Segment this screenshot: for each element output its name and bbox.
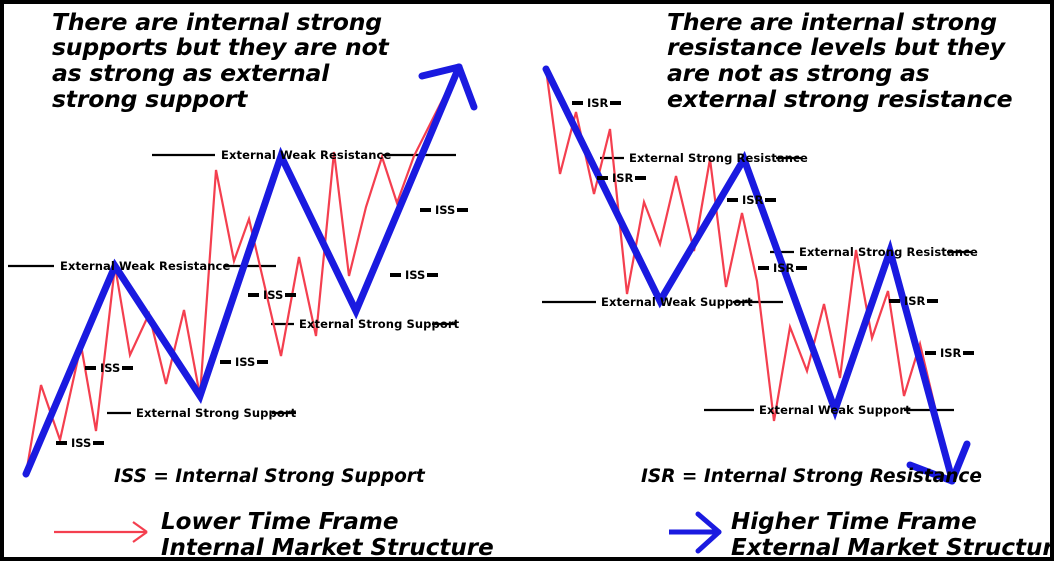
isr-label: ISR (904, 294, 926, 308)
isr-marker-1: ISR (572, 96, 621, 110)
iss-label: ISS (71, 436, 91, 450)
iss-label: ISS (100, 361, 120, 375)
left-panel-title: There are internal strong supports but t… (52, 8, 390, 113)
right-title-line-4: external strong resistance (667, 85, 1013, 113)
isr-dash-right (635, 176, 646, 180)
label-external-strong-support-1: External Strong Support (136, 406, 297, 420)
right-title-line-3: are not as strong as (667, 59, 930, 87)
right-legend-line-2: External Market Structure (731, 535, 1054, 561)
right-external-structure-line (546, 69, 952, 479)
isr-label: ISR (940, 346, 962, 360)
iss-dash-right (285, 293, 296, 297)
isr-dash-right (796, 266, 807, 270)
iss-dash-left (248, 293, 259, 297)
iss-dash-left (390, 273, 401, 277)
label-external-strong-support-2: External Strong Support (299, 317, 460, 331)
iss-marker-5: ISS (390, 268, 438, 282)
isr-marker-3: ISR (727, 193, 776, 207)
isr-dash-right (963, 351, 974, 355)
iss-dash-right (93, 441, 104, 445)
iss-dash-left (85, 366, 96, 370)
iss-marker-2: ISS (85, 361, 133, 375)
iss-marker-1: ISS (56, 436, 104, 450)
label-external-weak-support-1: External Weak Support (601, 295, 753, 309)
isr-dash-left (889, 299, 900, 303)
isr-label: ISR (587, 96, 609, 110)
left-legend-line-2: Internal Market Structure (161, 535, 494, 561)
label-external-strong-resistance-1: External Strong Resistance (629, 151, 808, 165)
iss-dash-right (457, 208, 468, 212)
diagram-frame: There are internal strong supports but t… (0, 0, 1054, 561)
left-title-line-3: as strong as external (52, 59, 330, 87)
right-legend: Higher Time Frame External Market Struct… (669, 509, 1054, 561)
right-isr-markers: ISR ISR ISR ISR (572, 96, 974, 360)
isr-label: ISR (773, 261, 795, 275)
iss-marker-4: ISS (248, 288, 296, 302)
isr-dash-left (597, 176, 608, 180)
iss-label: ISS (405, 268, 425, 282)
right-legend-arrow-icon (669, 514, 719, 551)
iss-dash-right (427, 273, 438, 277)
right-abbreviation: ISR = Internal Strong Resistance (641, 466, 982, 487)
isr-marker-6: ISR (925, 346, 974, 360)
isr-label: ISR (742, 193, 764, 207)
left-title-line-4: strong support (52, 85, 248, 113)
iss-label: ISS (235, 355, 255, 369)
iss-label: ISS (263, 288, 283, 302)
iss-dash-right (257, 360, 268, 364)
iss-dash-left (420, 208, 431, 212)
right-title-line-1: There are internal strong (667, 8, 997, 36)
left-level-labels: External Weak Resistance External Weak R… (60, 148, 460, 420)
right-panel-title: There are internal strong resistance lev… (667, 8, 1013, 113)
left-legend-arrow-icon (54, 522, 147, 542)
isr-dash-left (727, 198, 738, 202)
iss-dash-left (56, 441, 67, 445)
iss-marker-6: ISS (420, 203, 468, 217)
label-external-weak-resistance-2: External Weak Resistance (221, 148, 391, 162)
label-external-weak-resistance-1: External Weak Resistance (60, 259, 230, 273)
left-title-line-1: There are internal strong (52, 8, 382, 36)
left-abbreviation: ISS = Internal Strong Support (114, 466, 426, 487)
isr-dash-right (765, 198, 776, 202)
isr-dash-left (758, 266, 769, 270)
label-external-weak-support-2: External Weak Support (759, 403, 911, 417)
right-legend-line-1: Higher Time Frame (731, 509, 977, 535)
iss-marker-3: ISS (220, 355, 268, 369)
iss-dash-left (220, 360, 231, 364)
isr-dash-left (925, 351, 936, 355)
iss-label: ISS (435, 203, 455, 217)
left-legend-line-1: Lower Time Frame (161, 509, 398, 535)
left-legend: Lower Time Frame Internal Market Structu… (54, 509, 494, 561)
right-internal-structure-line (546, 69, 952, 479)
isr-marker-5: ISR (889, 294, 938, 308)
label-external-strong-resistance-2: External Strong Resistance (799, 245, 978, 259)
left-title-line-2: supports but they are not (52, 33, 390, 61)
isr-marker-4: ISR (758, 261, 807, 275)
isr-dash-left (572, 101, 583, 105)
right-panel: There are internal strong resistance lev… (542, 8, 1054, 561)
isr-label: ISR (612, 171, 634, 185)
isr-dash-right (927, 299, 938, 303)
market-structure-diagram: There are internal strong supports but t… (4, 4, 1054, 561)
isr-dash-right (610, 101, 621, 105)
left-panel: There are internal strong supports but t… (8, 8, 494, 561)
iss-dash-right (122, 366, 133, 370)
right-title-line-2: resistance levels but they (667, 33, 1007, 61)
